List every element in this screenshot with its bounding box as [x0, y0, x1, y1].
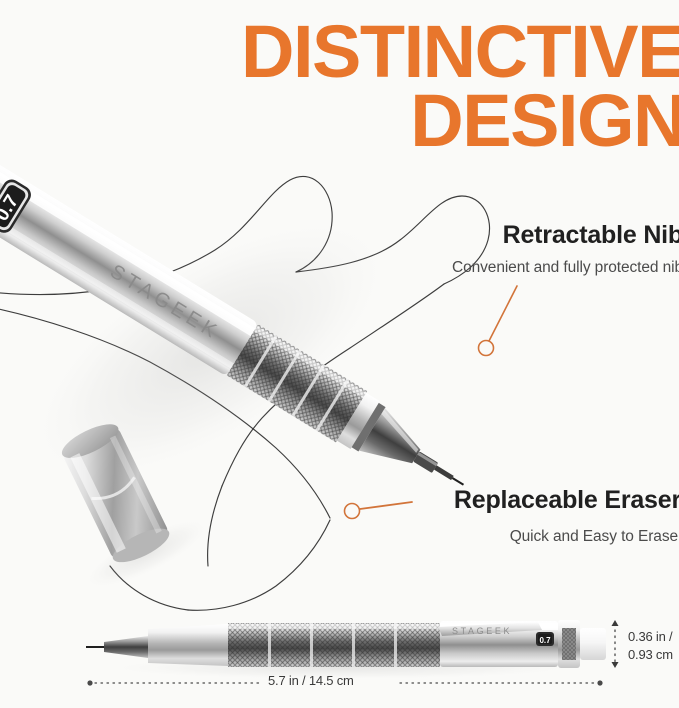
callout-subtitle: Quick and Easy to Erase [454, 528, 678, 547]
width-dimension-line [612, 620, 619, 668]
circle-marker-icon [479, 341, 494, 356]
callout-title: Replaceable Eraser [454, 487, 679, 515]
callout-retractable-nib: Retractable Nib Convenient and fully pro… [452, 222, 679, 277]
dimension-width-line2: 0.93 cm [628, 647, 673, 662]
dimension-width-label: 0.36 in / 0.93 cm [628, 628, 673, 663]
dimension-length-label: 5.7 in / 14.5 cm [268, 672, 354, 690]
circle-marker-icon [345, 504, 360, 519]
product-infographic: 0.7 STAGEEK [0, 0, 679, 708]
callout-title: Retractable Nib [452, 222, 679, 250]
eraser-leader-line [345, 502, 413, 519]
nib-leader-line [479, 286, 518, 356]
dimension-width-line1: 0.36 in / [628, 629, 672, 644]
annotation-lines [0, 0, 679, 708]
callout-replaceable-eraser: Replaceable Eraser Quick and Easy to Era… [454, 487, 679, 546]
callout-subtitle: Convenient and fully protected nib [452, 259, 679, 278]
